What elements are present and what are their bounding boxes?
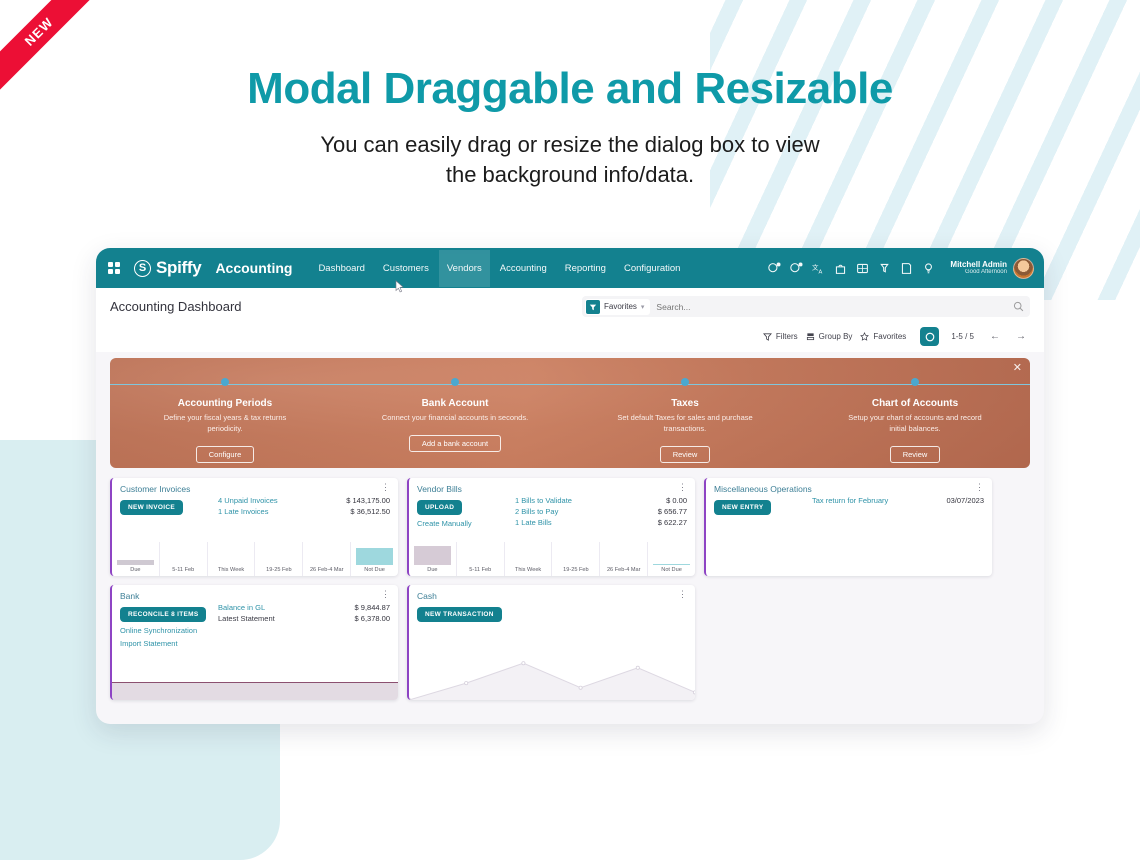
dashboard-cards: Customer Invoices ⋮ NEW INVOICE 4 Unpaid… [96,468,1044,700]
apps-board-icon[interactable] [856,262,869,275]
stat-value: $ 0.00 [666,496,687,505]
nav-item-dashboard[interactable]: Dashboard [310,250,372,287]
pager-prev-button[interactable]: ← [986,331,1004,342]
card-stats: 4 Unpaid Invoices $ 143,175.00 1 Late In… [218,496,390,518]
new-ribbon-label: NEW [22,14,57,49]
card-actions: RECONCILE 8 ITEMS Online Synchronization… [120,603,212,648]
step-title: Bank Account [340,398,570,409]
step-dot-icon [451,378,459,386]
line-chart-area [409,663,695,700]
favorites-button[interactable]: Favorites [860,332,906,341]
bar-cell: 26 Feb-4 Mar [599,542,647,576]
step-dot-icon [911,378,919,386]
step-title: Chart of Accounts [800,398,1030,409]
bar-chart: Due5-11 FebThis Week19-25 Feb26 Feb-4 Ma… [112,542,398,576]
review-accounts-button[interactable]: Review [890,446,941,463]
line-chart-point[interactable] [693,691,695,694]
card-title: Vendor Bills [417,484,462,494]
add-bank-account-button[interactable]: Add a bank account [409,435,501,452]
invoices-aging-chart: Due5-11 FebThis Week19-25 Feb26 Feb-4 Ma… [112,542,398,576]
card-body: NEW ENTRY Tax return for February 03/07/… [706,496,992,515]
card-body: RECONCILE 8 ITEMS Online Synchronization… [112,603,398,648]
online-synchronization-link[interactable]: Online Synchronization [120,626,212,635]
stat-row: 4 Unpaid Invoices $ 143,175.00 [218,496,390,505]
search-input[interactable] [656,302,1013,312]
line-chart-point[interactable] [465,682,468,685]
bar-cell: Not Due [350,542,398,576]
bar-label: 26 Feb-4 Mar [310,565,344,576]
import-statement-link[interactable]: Import Statement [120,639,212,648]
card-header: Miscellaneous Operations ⋮ [706,478,992,496]
brand-logo[interactable]: Spiffy [134,258,201,278]
group-by-button[interactable]: Group By [806,332,853,341]
new-invoice-button[interactable]: NEW INVOICE [120,500,183,515]
onboarding-steps: Accounting Periods Define your fiscal ye… [110,358,1030,468]
favorites-label: Favorites [873,332,906,341]
bills-aging-chart: Due5-11 FebThis Week19-25 Feb26 Feb-4 Ma… [409,542,695,576]
card-menu-icon[interactable]: ⋮ [381,591,390,597]
bar-cell: 19-25 Feb [551,542,599,576]
card-title: Bank [120,591,139,601]
configure-button[interactable]: Configure [196,446,255,463]
card-menu-icon[interactable]: ⋮ [678,484,687,490]
card-body: NEW INVOICE 4 Unpaid Invoices $ 143,175.… [112,496,398,518]
stat-row: Balance in GL $ 9,844.87 [218,603,390,612]
card-header: Cash ⋮ [409,585,695,603]
bank-balance-chart [112,682,398,700]
onboarding-step-accounting-periods: Accounting Periods Define your fiscal ye… [110,358,340,468]
stat-value: $ 6,378.00 [355,614,390,623]
card-title: Customer Invoices [120,484,190,494]
bar-cell: This Week [504,542,552,576]
bar-cell: 5-11 Feb [159,542,207,576]
stat-value: $ 36,512.50 [350,507,390,516]
card-stats: Tax return for February 03/07/2023 [812,496,984,515]
card-bank[interactable]: Bank ⋮ RECONCILE 8 ITEMS Online Synchron… [110,585,398,700]
step-dot-icon [221,378,229,386]
line-chart-point[interactable] [409,698,411,700]
bar-label: 26 Feb-4 Mar [607,565,641,576]
card-title: Cash [417,591,437,601]
bar-cell: Due [112,542,159,576]
stat-row: 1 Bills to Validate $ 0.00 [515,496,687,505]
card-menu-icon[interactable]: ⋮ [678,591,687,597]
bar-cell: This Week [207,542,255,576]
stat-row: 2 Bills to Pay $ 656.77 [515,507,687,516]
stat-label[interactable]: 1 Bills to Validate [515,496,572,505]
nav-item-reporting[interactable]: Reporting [557,250,614,287]
bar-cell: Due [409,542,456,576]
line-chart-point[interactable] [636,666,639,669]
new-transaction-button[interactable]: NEW TRANSACTION [417,607,502,622]
shop-icon[interactable] [834,262,847,275]
step-dot-icon [681,378,689,386]
card-actions: NEW ENTRY [714,496,806,515]
chevron-down-icon[interactable]: ▾ [641,303,645,311]
step-description: Connect your financial accounts in secon… [380,413,530,424]
bar-label: 5-11 Feb [172,565,194,576]
card-body: NEW TRANSACTION [409,603,695,622]
nav-item-customers[interactable]: Customers [375,250,437,287]
card-header: Bank ⋮ [112,585,398,603]
control-bar-top: Accounting Dashboard Favorites ▾ [110,296,1030,317]
page-title: Modal Draggable and Resizable [0,64,1140,114]
activities-icon[interactable] [790,262,803,275]
stat-label[interactable]: 2 Bills to Pay [515,507,558,516]
search-facet-favorites[interactable]: Favorites ▾ [585,299,650,315]
card-actions: NEW TRANSACTION [417,603,509,622]
stat-value: $ 9,844.87 [355,603,390,612]
bar-label: This Week [218,565,244,576]
stat-row: Latest Statement $ 6,378.00 [218,614,390,623]
card-title: Miscellaneous Operations [714,484,812,494]
dashboard-title: Accounting Dashboard [110,299,242,314]
avatar[interactable] [1013,258,1034,279]
stat-label[interactable]: Balance in GL [218,603,265,612]
card-body: UPLOAD Create Manually 1 Bills to Valida… [409,496,695,529]
card-stats: 1 Bills to Validate $ 0.00 2 Bills to Pa… [515,496,687,529]
nav-item-accounting[interactable]: Accounting [492,250,555,287]
bar-label: Due [130,565,140,576]
bar-label: Not Due [364,565,385,576]
nav-menu: Dashboard Customers Vendors Accounting R… [310,250,688,287]
step-description: Define your fiscal years & tax returns p… [150,413,300,435]
translate-icon[interactable]: 文 A [812,262,825,275]
star-icon [860,332,869,341]
bar-label: 5-11 Feb [469,565,491,576]
stat-value: $ 622.27 [658,518,687,527]
card-vendor-bills[interactable]: Vendor Bills ⋮ UPLOAD Create Manually 1 … [407,478,695,576]
navbar-system-tray: 文 A Mitchell Adm [768,258,1034,279]
nav-item-configuration[interactable]: Configuration [616,250,689,287]
onboarding-banner: ✕ Accounting Periods Define your fiscal … [110,358,1030,468]
group-icon [806,332,815,341]
card-menu-icon[interactable]: ⋮ [381,484,390,490]
bar[interactable] [356,548,393,566]
kanban-view-icon [925,332,935,342]
control-bar-actions: Filters Group By Favorites 1-5 / 5 ← → [110,317,1030,346]
filter-icon [763,332,772,341]
step-description: Set default Taxes for sales and purchase… [610,413,760,435]
page-subtitle-line2: the background info/data. [0,160,1140,190]
pager-count: 1-5 / 5 [951,332,974,341]
app-window: Spiffy Accounting Dashboard Customers Ve… [96,248,1044,724]
filters-label: Filters [776,332,798,341]
step-title: Accounting Periods [110,398,340,409]
line-chart-point[interactable] [522,662,525,665]
stat-label[interactable]: 1 Late Invoices [218,507,268,516]
nav-item-vendors[interactable]: Vendors [439,250,490,287]
card-customer-invoices[interactable]: Customer Invoices ⋮ NEW INVOICE 4 Unpaid… [110,478,398,576]
stat-row: 1 Late Invoices $ 36,512.50 [218,507,390,516]
top-navbar: Spiffy Accounting Dashboard Customers Ve… [96,248,1044,288]
card-menu-icon[interactable]: ⋮ [975,484,984,490]
bar-label: 19-25 Feb [266,565,292,576]
filter-funnel-icon [586,300,600,314]
card-cash[interactable]: Cash ⋮ NEW TRANSACTION [407,585,695,700]
stat-label[interactable]: 1 Late Bills [515,518,552,527]
bar-cell: Not Due [647,542,695,576]
bar-label: Not Due [661,565,682,576]
search-container[interactable]: Favorites ▾ [582,296,1030,317]
bar-label: Due [427,565,437,576]
apps-grid-icon[interactable] [108,262,120,274]
onboarding-step-taxes: Taxes Set default Taxes for sales and pu… [570,358,800,468]
stat-row: Tax return for February 03/07/2023 [812,496,984,505]
card-header: Customer Invoices ⋮ [112,478,398,496]
cash-balance-chart [409,654,695,700]
bar-cell: 5-11 Feb [456,542,504,576]
svg-text:A: A [819,269,823,275]
upload-button[interactable]: UPLOAD [417,500,462,515]
tax-return-link[interactable]: Tax return for February [812,496,888,505]
stat-label: Latest Statement [218,614,275,623]
bar-label: 19-25 Feb [563,565,589,576]
card-header: Vendor Bills ⋮ [409,478,695,496]
stat-value: $ 656.77 [658,507,687,516]
stat-row: 1 Late Bills $ 622.27 [515,518,687,527]
bar[interactable] [414,546,451,565]
note-icon[interactable] [900,262,913,275]
user-menu[interactable]: Mitchell Admin Good Afternoon [950,258,1034,279]
new-entry-button[interactable]: NEW ENTRY [714,500,771,515]
bar-chart: Due5-11 FebThis Week19-25 Feb26 Feb-4 Ma… [409,542,695,576]
group-by-label: Group By [819,332,853,341]
tips-icon[interactable] [922,262,935,275]
user-greeting: Good Afternoon [950,269,1007,276]
card-miscellaneous-operations[interactable]: Miscellaneous Operations ⋮ NEW ENTRY Tax… [704,478,992,576]
line-chart [409,654,695,700]
pager-next-button[interactable]: → [1012,331,1030,342]
bar-cell: 26 Feb-4 Mar [302,542,350,576]
page-subtitle-line1: You can easily drag or resize the dialog… [0,130,1140,160]
card-actions: UPLOAD Create Manually [417,496,509,529]
messages-icon[interactable] [768,262,781,275]
brand-name: Spiffy [156,258,201,278]
kanban-view-button[interactable] [920,327,939,346]
stat-label[interactable]: 4 Unpaid Invoices [218,496,278,505]
spiffy-logo-icon [134,260,151,277]
tax-return-date: 03/07/2023 [946,496,984,505]
bank-balance-bar [112,682,398,700]
app-name: Accounting [215,260,292,276]
search-icon[interactable] [1013,301,1024,312]
onboarding-step-bank-account: Bank Account Connect your financial acco… [340,358,570,468]
page-subtitle: You can easily drag or resize the dialog… [0,130,1140,189]
stat-value: $ 143,175.00 [346,496,390,505]
user-info: Mitchell Admin Good Afternoon [950,260,1007,276]
step-title: Taxes [570,398,800,409]
card-stats: Balance in GL $ 9,844.87 Latest Statemen… [218,603,390,648]
onboarding-step-chart-of-accounts: Chart of Accounts Setup your chart of ac… [800,358,1030,468]
search-facet-label: Favorites [604,302,637,311]
filters-button[interactable]: Filters [763,332,798,341]
card-actions: NEW INVOICE [120,496,212,518]
bar-label: This Week [515,565,541,576]
debug-icon[interactable] [878,262,891,275]
control-bar: Accounting Dashboard Favorites ▾ [96,288,1044,352]
create-manually-link[interactable]: Create Manually [417,519,509,528]
bar-cell: 19-25 Feb [254,542,302,576]
reconcile-items-button[interactable]: RECONCILE 8 ITEMS [120,607,206,622]
user-name: Mitchell Admin [950,260,1007,269]
step-description: Setup your chart of accounts and record … [840,413,990,435]
review-taxes-button[interactable]: Review [660,446,711,463]
line-chart-point[interactable] [579,686,582,689]
